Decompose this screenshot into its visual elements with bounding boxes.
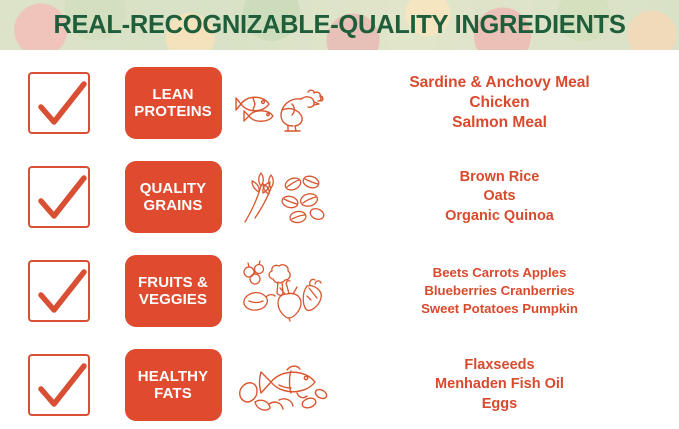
ingredient-line: Sweet Potatoes Pumpkin (338, 300, 661, 318)
checkbox-cell (0, 72, 118, 134)
category-pill-lean-proteins: LEAN PROTEINS (125, 67, 222, 139)
checkmark-icon (34, 171, 90, 227)
ingredient-line: Brown Rice (338, 168, 661, 188)
ingredient-list-fruits-and-veggies: Beets Carrots Apples Blueberries Cranber… (338, 264, 679, 318)
checkbox-cell (0, 354, 118, 416)
ingredient-line: Menhaden Fish Oil (338, 375, 661, 395)
category-pill-fruits-and-veggies: FRUITS & VEGGIES (125, 255, 222, 327)
sardine-and-chicken-icon (235, 74, 331, 132)
category-pill-healthy-fats: HEALTHY FATS (125, 349, 222, 421)
art-cell (228, 260, 338, 322)
checkbox-cell (0, 166, 118, 228)
pill-line-2: GRAINS (140, 197, 207, 214)
pill-line-1: FRUITS & (138, 274, 208, 291)
checkmark-icon (34, 359, 90, 415)
pill-line-1: QUALITY (140, 180, 207, 197)
checkbox-healthy-fats[interactable] (28, 354, 90, 416)
pill-line-1: HEALTHY (138, 368, 208, 385)
ingredient-line: Organic Quinoa (338, 207, 661, 227)
ingredient-list-quality-grains: Brown Rice Oats Organic Quinoa (338, 168, 679, 227)
ingredient-line: Sardine & Anchovy Meal (338, 73, 661, 93)
ingredient-line: Eggs (338, 395, 661, 415)
label-cell: LEAN PROTEINS (118, 67, 228, 139)
label-cell: QUALITY GRAINS (118, 161, 228, 233)
row-fruits-and-veggies: FRUITS & VEGGIES (0, 244, 679, 338)
art-cell (228, 168, 338, 226)
ingredient-line: Beets Carrots Apples (338, 264, 661, 282)
fish-and-seeds-icon (235, 356, 331, 414)
checkbox-cell (0, 260, 118, 322)
label-cell: FRUITS & VEGGIES (118, 255, 228, 327)
category-pill-quality-grains: QUALITY GRAINS (125, 161, 222, 233)
art-cell (228, 74, 338, 132)
row-lean-proteins: LEAN PROTEINS (0, 56, 679, 150)
page-title: REAL-RECOGNIZABLE-QUALITY INGREDIENTS (0, 0, 679, 50)
ingredient-line: Oats (338, 187, 661, 207)
ingredient-line: Blueberries Cranberries (338, 282, 661, 300)
row-quality-grains: QUALITY GRAINS (0, 150, 679, 244)
header-banner: REAL-RECOGNIZABLE-QUALITY INGREDIENTS (0, 0, 679, 50)
ingredient-line: Flaxseeds (338, 356, 661, 376)
ingredient-line: Salmon Meal (338, 113, 661, 133)
checkmark-icon (34, 265, 90, 321)
fruits-and-vegetables-icon (235, 260, 331, 322)
ingredient-line: Chicken (338, 93, 661, 113)
row-healthy-fats: HEALTHY FATS (0, 338, 679, 429)
grains-and-oats-icon (235, 168, 331, 226)
checkbox-fruits-and-veggies[interactable] (28, 260, 90, 322)
checkmark-icon (34, 77, 90, 133)
checkbox-lean-proteins[interactable] (28, 72, 90, 134)
pill-line-2: FATS (138, 385, 208, 402)
pill-line-1: LEAN (134, 86, 211, 103)
label-cell: HEALTHY FATS (118, 349, 228, 421)
ingredient-list-healthy-fats: Flaxseeds Menhaden Fish Oil Eggs (338, 356, 679, 415)
ingredient-rows: LEAN PROTEINS (0, 50, 679, 429)
art-cell (228, 356, 338, 414)
ingredient-list-lean-proteins: Sardine & Anchovy Meal Chicken Salmon Me… (338, 73, 679, 133)
pill-line-2: VEGGIES (138, 291, 208, 308)
checkbox-quality-grains[interactable] (28, 166, 90, 228)
pill-line-2: PROTEINS (134, 103, 211, 120)
ingredients-infographic: REAL-RECOGNIZABLE-QUALITY INGREDIENTS LE… (0, 0, 679, 429)
